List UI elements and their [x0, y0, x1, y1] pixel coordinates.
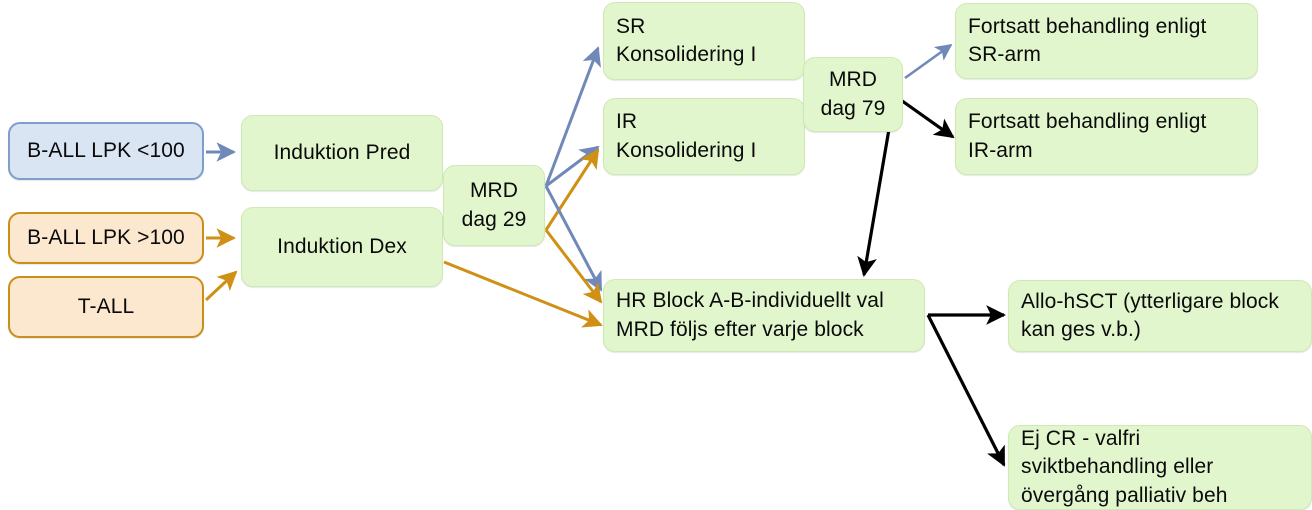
node-label-line1: Fortsatt behandling enligt	[968, 108, 1206, 136]
edge-tall-to-induktion-dex	[206, 272, 236, 300]
node-label-line2: SR-arm	[968, 41, 1041, 69]
node-label-line2: kan ges v.b.)	[1021, 316, 1141, 344]
node-label-line2: dag 79	[821, 95, 886, 123]
node-hr-block[interactable]: HR Block A-B-individuellt val MRD följs …	[603, 279, 925, 352]
flowchart-canvas: B-ALL LPK <100 B-ALL LPK >100 T-ALL Indu…	[0, 0, 1312, 510]
edge-induktion-dex-to-hr-block	[444, 262, 601, 325]
node-label-line1: IR	[616, 108, 637, 136]
edge-hr-block-to-ej-cr	[928, 315, 1004, 465]
node-ir-konsolidering[interactable]: IR Konsolidering I	[603, 98, 805, 175]
node-label-line2: Konsolidering I	[616, 137, 756, 165]
edge-mrd29-to-sr-konsolidering	[546, 48, 598, 186]
node-label-line2: IR-arm	[968, 137, 1033, 165]
node-label-line1: Allo-hSCT (ytterligare block	[1021, 288, 1279, 316]
node-label-line3: övergång palliativ beh	[1021, 482, 1228, 510]
node-label: Induktion Pred	[274, 139, 411, 167]
node-label-line1: SR	[616, 13, 645, 41]
node-sr-konsolidering[interactable]: SR Konsolidering I	[603, 2, 805, 80]
node-tall[interactable]: T-ALL	[8, 276, 204, 338]
node-fortsatt-sr-arm[interactable]: Fortsatt behandling enligt SR-arm	[955, 3, 1258, 79]
node-label-line1: Ej CR - valfri	[1021, 425, 1140, 453]
node-label-line2: Konsolidering I	[616, 41, 756, 69]
node-label: B-ALL LPK <100	[27, 137, 185, 165]
node-mrd-dag-79[interactable]: MRD dag 79	[803, 57, 903, 132]
node-label-line2: sviktbehandling eller	[1021, 453, 1213, 481]
node-ball-lpk-low[interactable]: B-ALL LPK <100	[8, 122, 204, 180]
node-allo-hsct[interactable]: Allo-hSCT (ytterligare block kan ges v.b…	[1008, 280, 1312, 352]
edge-mrd29-to-hr-block-orange	[546, 230, 601, 302]
edge-mrd29-to-ir-konsolidering-blue	[546, 147, 598, 186]
node-label: B-ALL LPK >100	[27, 224, 185, 252]
node-label-line2: MRD följs efter varje block	[616, 316, 864, 344]
node-ej-cr[interactable]: Ej CR - valfri sviktbehandling eller öve…	[1008, 425, 1312, 510]
node-label-line1: Fortsatt behandling enligt	[968, 13, 1206, 41]
node-label: T-ALL	[78, 293, 135, 321]
edge-mrd29-to-hr-block-blue	[546, 186, 601, 290]
node-ball-lpk-high[interactable]: B-ALL LPK >100	[8, 212, 204, 264]
node-label-line1: MRD	[829, 66, 877, 94]
node-induktion-pred[interactable]: Induktion Pred	[241, 115, 443, 191]
node-fortsatt-ir-arm[interactable]: Fortsatt behandling enligt IR-arm	[955, 98, 1258, 175]
node-label-line2: dag 29	[462, 206, 527, 234]
node-label-line1: HR Block A-B-individuellt val	[616, 287, 884, 315]
node-mrd-dag-29[interactable]: MRD dag 29	[443, 165, 545, 246]
node-induktion-dex[interactable]: Induktion Dex	[241, 207, 443, 287]
node-label: Induktion Dex	[277, 233, 407, 261]
edge-mrd79-to-fortsatt-sr	[905, 45, 951, 78]
edge-mrd29-to-ir-konsolidering-orange	[546, 150, 598, 230]
edge-mrd79-to-fortsatt-ir	[898, 98, 953, 137]
node-label-line1: MRD	[470, 177, 518, 205]
